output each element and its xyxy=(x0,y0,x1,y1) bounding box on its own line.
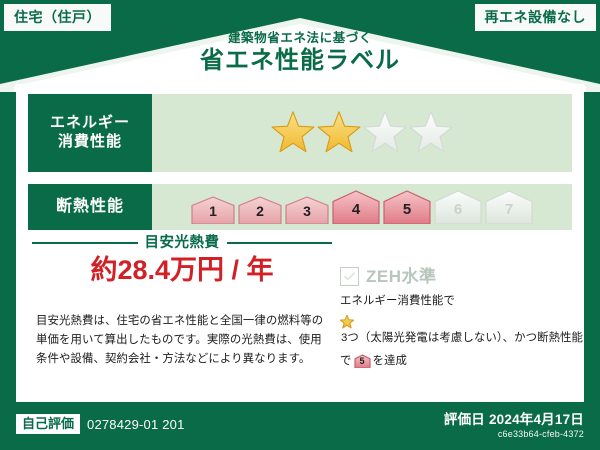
zeh-desc-part1: エネルギー消費性能で xyxy=(340,295,455,307)
star-4 xyxy=(409,111,453,155)
heading-rule-right xyxy=(227,242,333,244)
badge-building-type: 住宅（住戸） xyxy=(4,4,111,31)
utility-cost-value: 約28.4万円 / 年 xyxy=(32,256,332,286)
star-2 xyxy=(317,111,361,155)
checkmark-icon xyxy=(344,272,355,281)
insulation-level-4: 4 xyxy=(332,190,380,224)
insulation-performance-row: 断熱性能 1234567 xyxy=(28,184,572,230)
zeh-heading: ZEH水準 xyxy=(340,267,437,286)
utility-cost-heading-text: 目安光熱費 xyxy=(145,236,220,251)
insulation-level-5: 5 xyxy=(383,190,431,224)
zeh-desc-part3: を達成 xyxy=(373,355,407,367)
evaluation-uuid: c6e33b64-cfeb-4372 xyxy=(444,428,584,442)
zeh-title: ZEH水準 xyxy=(366,268,437,285)
heading-rule-left xyxy=(32,242,138,244)
insulation-level-3: 3 xyxy=(285,196,329,224)
energy-performance-label: エネルギー 消費性能 xyxy=(28,94,152,172)
energy-performance-panel xyxy=(152,94,572,172)
energy-label-line2: 消費性能 xyxy=(58,133,122,152)
utility-cost-heading: 目安光熱費 xyxy=(32,236,332,251)
insulation-level-2: 2 xyxy=(238,196,282,224)
badge-renewable-energy: 再エネ設備なし xyxy=(475,4,597,31)
insulation-performance-panel: 1234567 xyxy=(152,184,572,230)
label-card: エネルギー 消費性能 断熱性能 1234567 目安光熱費 約28.4万円 / … xyxy=(16,84,584,402)
inline-star-icon xyxy=(340,315,594,329)
insulation-label-text: 断熱性能 xyxy=(56,197,124,217)
evaluation-date: 評価日 2024年4月17日 xyxy=(444,412,584,428)
insulation-level-1: 1 xyxy=(191,196,235,224)
evaluation-date-block: 評価日 2024年4月17日 c6e33b64-cfeb-4372 xyxy=(444,412,584,442)
insulation-level-7: 7 xyxy=(485,190,533,224)
self-evaluation-chip: 自己評価 xyxy=(16,414,80,434)
star-1 xyxy=(271,111,315,155)
insulation-level-scale: 1234567 xyxy=(191,190,533,224)
insulation-level-6: 6 xyxy=(434,190,482,224)
zeh-description: エネルギー消費性能で3つ（太陽光発電は考慮しない）、かつ断熱性能で5を達成 xyxy=(340,292,594,376)
title-main: 省エネ性能ラベル xyxy=(0,49,600,73)
self-evaluation-number: 0278429-01 201 xyxy=(87,418,185,431)
inline-house-badge: 5 xyxy=(354,359,371,371)
energy-label-line1: エネルギー xyxy=(50,114,130,133)
star-rating xyxy=(271,111,453,155)
title-subtitle: 建築物省エネ法に基づく xyxy=(0,32,600,45)
label-footer: 自己評価 0278429-01 201 評価日 2024年4月17日 c6e33… xyxy=(0,404,600,450)
insulation-performance-label: 断熱性能 xyxy=(28,184,152,230)
self-evaluation-block: 自己評価 0278429-01 201 xyxy=(16,414,185,434)
page-title: 建築物省エネ法に基づく 省エネ性能ラベル xyxy=(0,32,600,73)
star-3 xyxy=(363,111,407,155)
energy-performance-row: エネルギー 消費性能 xyxy=(28,94,572,172)
energy-performance-label: 住宅（住戸） 再エネ設備なし 建築物省エネ法に基づく 省エネ性能ラベル エネルギ… xyxy=(0,0,600,450)
utility-cost-note: 目安光熱費は、住宅の省エネ性能と全国一律の燃料等の単価を用いて算出したものです。… xyxy=(36,312,332,368)
zeh-checkbox[interactable] xyxy=(340,267,359,286)
